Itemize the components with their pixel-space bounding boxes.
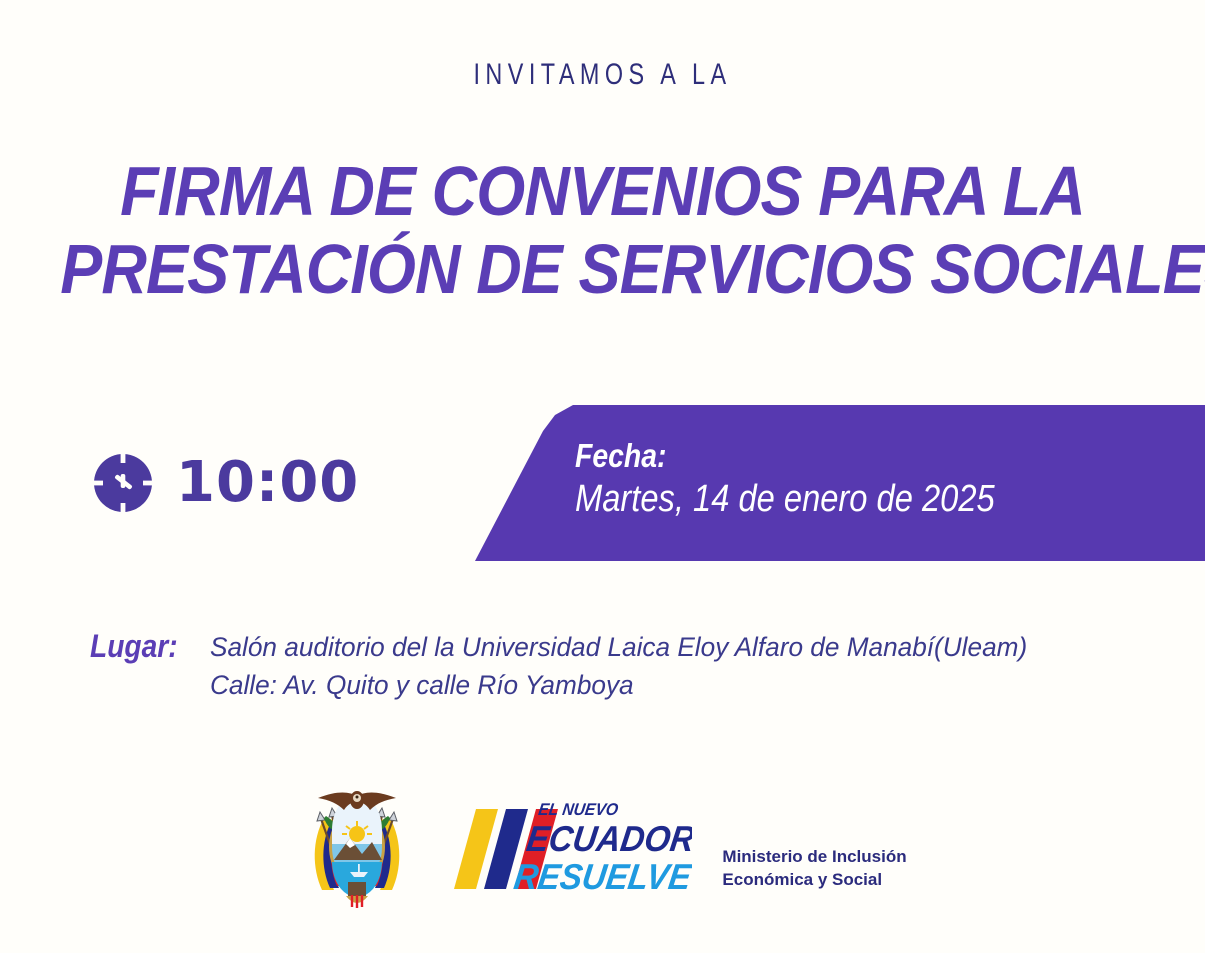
brand-bottom-text: RESUELVE (512, 857, 693, 896)
date-banner: Fecha: Martes, 14 de enero de 2025 (455, 405, 1205, 561)
place-lines: Salón auditorio del la Universidad Laica… (210, 626, 1052, 704)
event-time: 10:00 (92, 452, 359, 514)
ministry-line-1: Ministerio de Inclusión (722, 845, 906, 868)
eyebrow-text: INVITAMOS A LA (133, 58, 1073, 92)
event-place: Lugar: Salón auditorio del la Universida… (90, 626, 1052, 704)
brand-top-text: EL NUEVO (538, 800, 620, 819)
footer-logos: EL NUEVO ECUADOR RESUELVE Ministerio de … (0, 782, 1205, 910)
brand-mid-text: ECUADOR (525, 819, 693, 858)
time-value: 10:00 (176, 455, 359, 511)
event-invitation-poster: INVITAMOS A LA FIRMA DE CONVENIOS PARA L… (0, 0, 1205, 953)
place-line-2: Calle: Av. Quito y calle Río Yamboya (210, 666, 1027, 704)
ministry-label: Ministerio de Inclusión Económica y Soci… (722, 801, 906, 891)
title-line-1: FIRMA DE CONVENIOS PARA LA (60, 152, 1145, 230)
ministry-line-2: Económica y Social (722, 868, 906, 891)
date-label: Fecha: (575, 437, 995, 475)
clock-icon (92, 452, 154, 514)
place-line-1: Salón auditorio del la Universidad Laica… (210, 628, 1027, 666)
page-title: FIRMA DE CONVENIOS PARA LA PRESTACIÓN DE… (0, 152, 1205, 308)
title-line-2: PRESTACIÓN DE SERVICIOS SOCIALES (60, 230, 1145, 308)
place-label: Lugar: (90, 626, 178, 666)
date-banner-content: Fecha: Martes, 14 de enero de 2025 (575, 437, 1063, 523)
ecuador-coat-of-arms-icon (298, 782, 416, 910)
date-value: Martes, 14 de enero de 2025 (575, 475, 995, 523)
el-nuevo-ecuador-resuelve-logo: EL NUEVO ECUADOR RESUELVE (442, 789, 692, 904)
